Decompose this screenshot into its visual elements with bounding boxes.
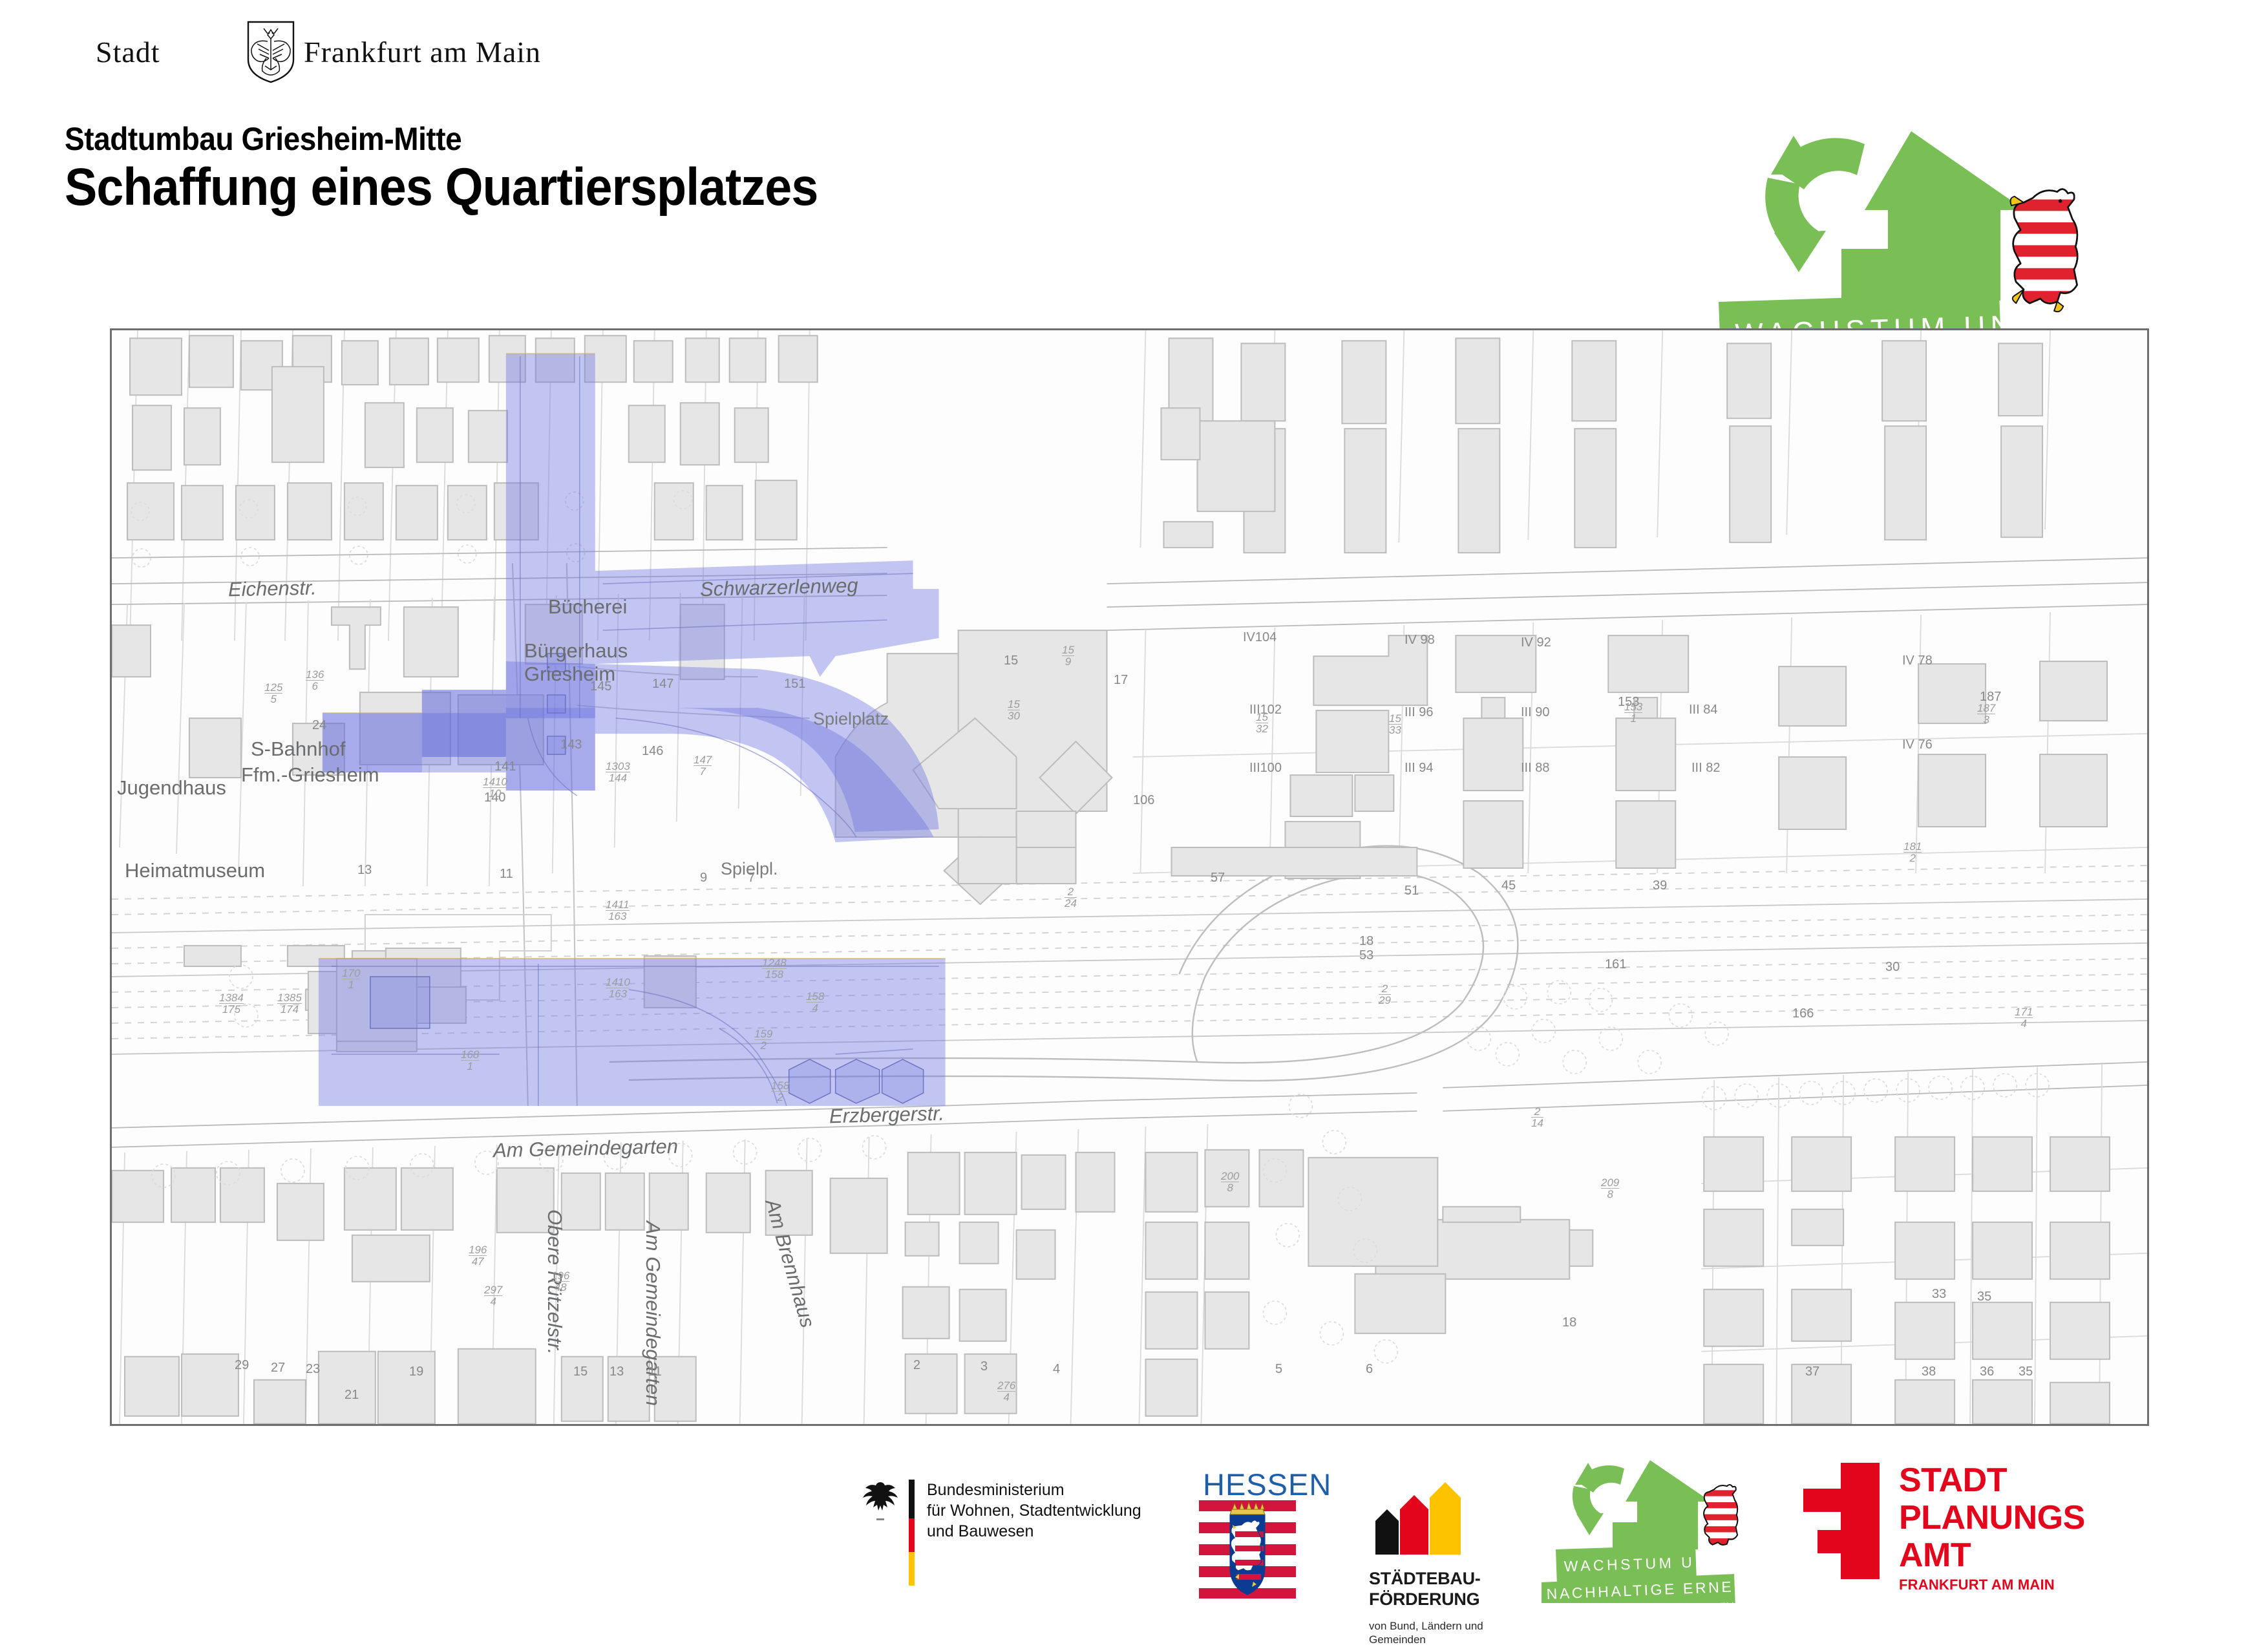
- bmwsb-line1: Bundesministerium: [927, 1480, 1141, 1500]
- city-logo-right-word: Frankfurt am Main: [304, 35, 541, 69]
- staedtebaufoerderung-logo: STÄDTEBAU- FÖRDERUNG von Bund, Ländern u…: [1365, 1451, 1559, 1603]
- bmwsb-line2: für Wohnen, Stadtentwicklung: [927, 1500, 1141, 1521]
- sbf-sub2: Gemeinden: [1369, 1633, 1483, 1646]
- flag-bar-gold: [909, 1552, 915, 1586]
- spa-line1: STADT: [1899, 1461, 2085, 1499]
- sbf-line1: STÄDTEBAU-: [1369, 1569, 1481, 1589]
- cadastral-map[interactable]: Eichenstr. Schwarzerlenweg Erzbergerstr.…: [110, 328, 2149, 1426]
- hessen-crest-icon: [1199, 1500, 1296, 1599]
- flag-bar-black: [909, 1480, 915, 1518]
- hessen-wordmark: HESSEN: [1203, 1467, 1331, 1502]
- hessen-state-logo: HESSEN: [1199, 1451, 1315, 1603]
- flag-bar-red: [909, 1518, 915, 1552]
- project-programme-subtitle: Stadtumbau Griesheim-Mitte: [65, 120, 461, 158]
- wne-logo-footer: WACHSTUM UND NACHHALTIGE ERNEUERUNG STÄD…: [1542, 1451, 1755, 1603]
- funding-logo-footer: Bundesministerium für Wohnen, Stadtentwi…: [0, 1451, 2268, 1603]
- bmwsb-logo: Bundesministerium für Wohnen, Stadtentwi…: [860, 1451, 1196, 1603]
- stadtplanungsamt-logo: STADT PLANUNGS AMT FRANKFURT AM MAIN: [1803, 1451, 2139, 1603]
- sbf-sub1: von Bund, Ländern und: [1369, 1619, 1483, 1633]
- spa-line2: PLANUNGS: [1899, 1499, 2085, 1536]
- city-logo-left-word: Stadt: [96, 35, 160, 69]
- hessen-lion-icon: [2007, 189, 2083, 312]
- spa-sub: FRANKFURT AM MAIN: [1899, 1577, 2055, 1593]
- spa-line3: AMT: [1899, 1536, 2085, 1574]
- city-of-frankfurt-logo: Stadt Frankfurt am Main: [96, 31, 509, 76]
- sbf-line2: FÖRDERUNG: [1369, 1589, 1481, 1610]
- page-title: Schaffung eines Quartiersplatzes: [65, 157, 818, 218]
- page-header: Stadt Frankfurt am Main Stadtumbau Gries…: [0, 0, 2268, 304]
- stadtplanungsamt-mark-icon: [1803, 1463, 1880, 1579]
- map-graphics: [112, 330, 2147, 1424]
- bundesadler-icon: [860, 1478, 901, 1530]
- frankfurt-eagle-crest-icon: [243, 19, 299, 84]
- hessen-lion-small-icon: [1701, 1485, 1741, 1545]
- bmwsb-line3: und Bauwesen: [927, 1521, 1141, 1542]
- three-houses-icon: [1372, 1478, 1462, 1555]
